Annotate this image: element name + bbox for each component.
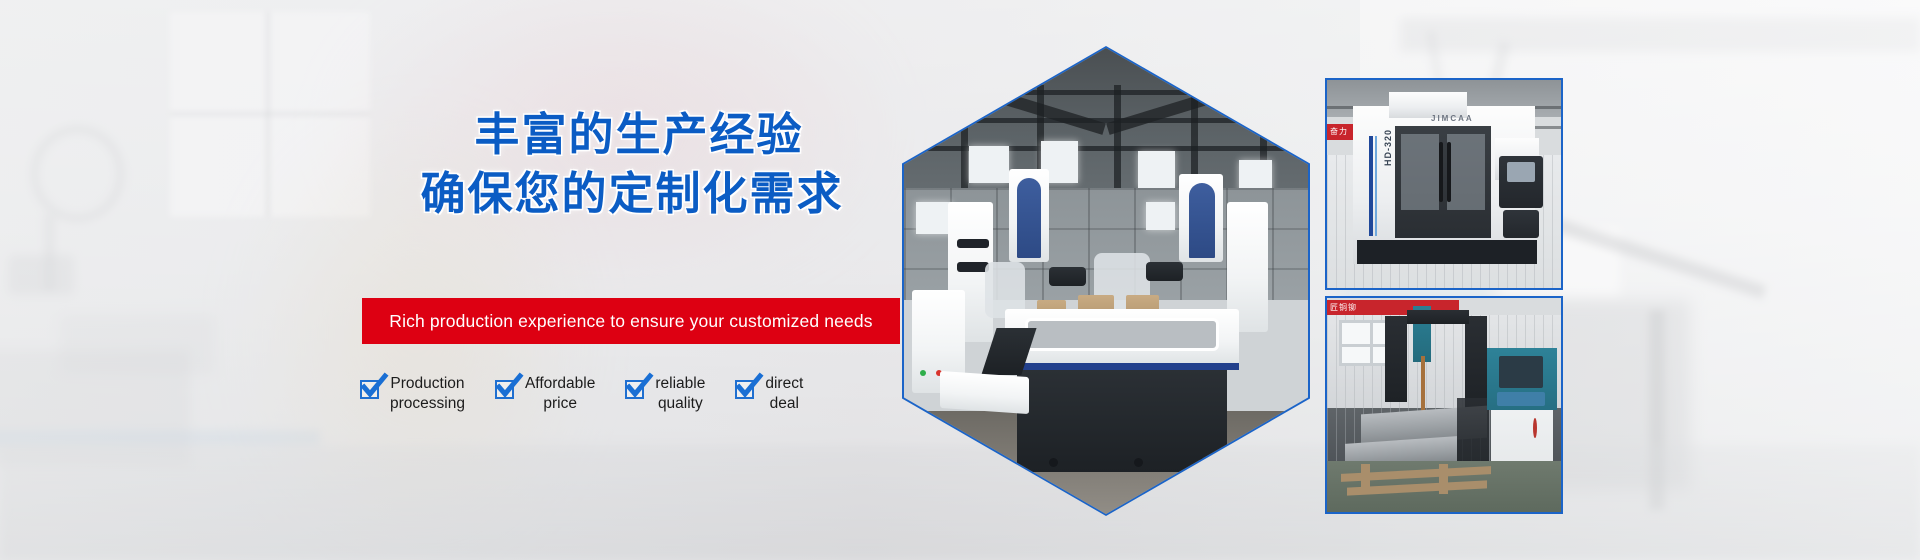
checkbox-checked-icon[interactable] — [495, 380, 514, 399]
checkbox-checked-icon[interactable] — [625, 380, 644, 399]
thumbnail-machine-label: HD-320 — [1383, 129, 1393, 166]
thumbnail-drilling-photo: 匠铜铆 — [1327, 298, 1561, 512]
feature-list: Productionprocessing Affordableprice rel… — [360, 374, 803, 413]
checkbox-checked-icon[interactable] — [735, 380, 754, 399]
hexagon-photo — [904, 48, 1308, 514]
headline: 丰富的生产经验 确保您的定制化需求 — [362, 106, 902, 225]
thumbnail-hd320[interactable]: 奋力 HD-320 JIMCAA — [1325, 78, 1563, 290]
thumbnail-brand-logo: JIMCAA — [1431, 114, 1474, 123]
feature-item-reliable-quality[interactable]: reliablequality — [625, 374, 705, 413]
thumbnail-hd320-photo: 奋力 HD-320 JIMCAA — [1327, 80, 1561, 288]
headline-line-1: 丰富的生产经验 — [362, 106, 902, 165]
feature-label-line2: processing — [390, 395, 465, 412]
feature-label: Productionprocessing — [390, 374, 465, 413]
feature-label-line2: deal — [770, 395, 799, 412]
feature-label: reliablequality — [655, 374, 705, 413]
feature-label: directdeal — [765, 374, 803, 413]
feature-label-line1: Affordable — [525, 375, 595, 392]
feature-label-line1: reliable — [655, 375, 705, 392]
feature-label-line2: price — [543, 395, 577, 412]
workshop-scene — [904, 48, 1308, 514]
checkbox-checked-icon[interactable] — [360, 380, 379, 399]
feature-item-direct-deal[interactable]: directdeal — [735, 374, 803, 413]
feature-label-line1: direct — [765, 375, 803, 392]
feature-item-production-processing[interactable]: Productionprocessing — [360, 374, 465, 413]
hero-hexagon-image[interactable] — [902, 46, 1310, 516]
headline-line-2: 确保您的定制化需求 — [362, 165, 902, 224]
feature-label: Affordableprice — [525, 374, 595, 413]
feature-label-line2: quality — [658, 395, 703, 412]
promo-banner: 丰富的生产经验 确保您的定制化需求 Rich production experi… — [0, 0, 1920, 560]
feature-item-affordable-price[interactable]: Affordableprice — [495, 374, 595, 413]
subtitle-text: Rich production experience to ensure you… — [389, 311, 872, 332]
thumbnail-drilling-machine[interactable]: 匠铜铆 — [1325, 296, 1563, 514]
feature-label-line1: Production — [390, 375, 464, 392]
subtitle-banner: Rich production experience to ensure you… — [362, 298, 900, 344]
